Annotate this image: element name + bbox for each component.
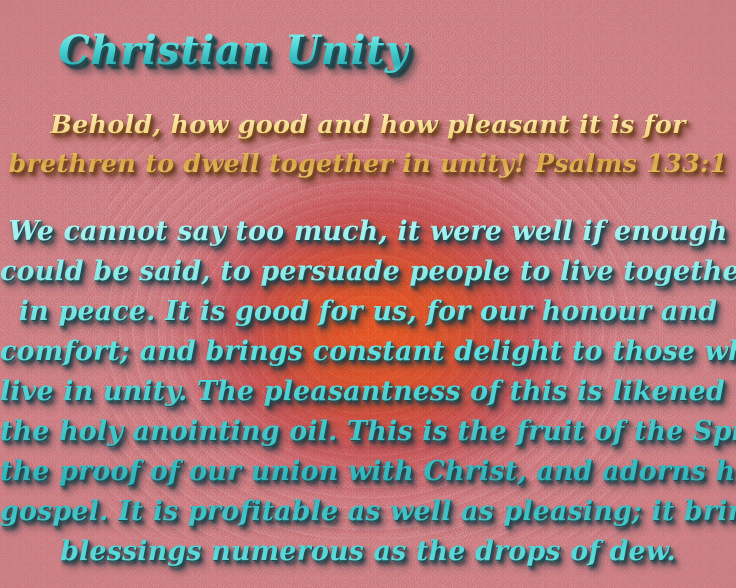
scripture-verse: Behold, how good and how pleasant it is … xyxy=(0,106,736,184)
page-title: Christian Unity xyxy=(58,27,409,74)
commentary-line: the holy anointing oil. This is the frui… xyxy=(0,412,736,452)
commentary-line: live in unity. The pleasantness of this … xyxy=(0,372,736,412)
commentary-line: in peace. It is good for us, for our hon… xyxy=(0,292,736,332)
commentary-line: the proof of our union with Christ, and … xyxy=(0,452,736,492)
poster-content: Christian Unity Behold, how good and how… xyxy=(0,0,736,588)
verse-line: Behold, how good and how pleasant it is … xyxy=(0,106,736,145)
commentary-line: gospel. It is profitable as well as plea… xyxy=(0,492,736,532)
commentary-line: comfort; and brings constant delight to … xyxy=(0,332,736,372)
scripture-poster: Christian Unity Behold, how good and how… xyxy=(0,0,736,588)
commentary-line: We cannot say too much, it were well if … xyxy=(0,212,736,252)
commentary-text: We cannot say too much, it were well if … xyxy=(0,212,736,572)
commentary-line: blessings numerous as the drops of dew. xyxy=(0,532,736,572)
verse-line: brethren to dwell together in unity! Psa… xyxy=(0,145,736,184)
commentary-line: could be said, to persuade people to liv… xyxy=(0,252,736,292)
